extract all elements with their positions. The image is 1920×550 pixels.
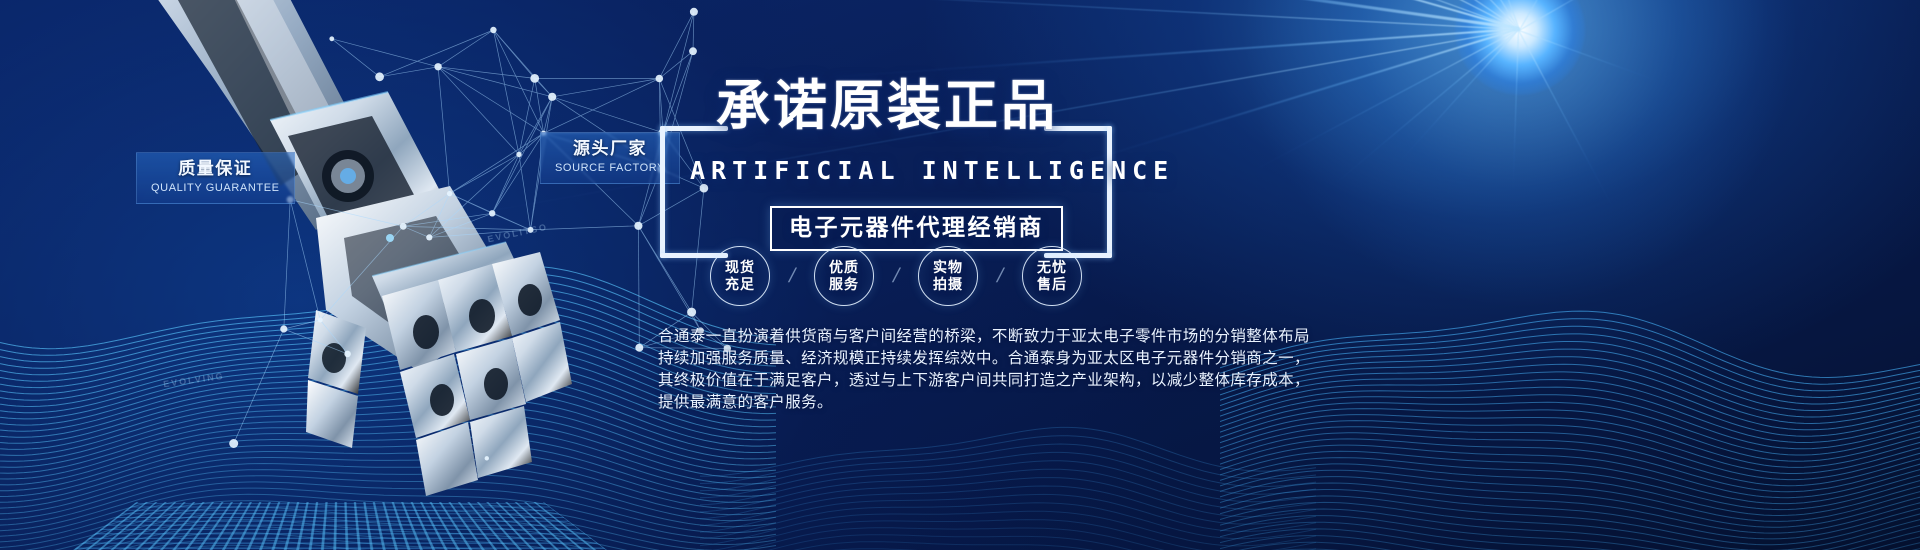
bracket-left-vertical: [660, 126, 665, 258]
light-ray: [1519, 0, 1675, 31]
feature-badge-list: 现货充足/优质服务/实物拍摄/无忧售后: [710, 246, 1082, 306]
light-ray: [842, 0, 1520, 30]
light-ray: [1402, 0, 1519, 30]
light-ray: [1030, 0, 1519, 30]
slogan-text: 电子元器件代理经销商: [789, 214, 1044, 240]
light-ray: [1335, 29, 1519, 184]
description-line: 其终极价值在于满足客户，透过与上下游客户间共同打造之产业架构，以减少整体库存成本…: [658, 370, 1318, 392]
light-ray: [1398, 29, 1519, 163]
light-ray: [1468, 0, 1520, 30]
badge-quality-guarantee: 质量保证 QUALITY GUARANTEE: [136, 152, 295, 204]
feature-badge: 现货充足: [710, 246, 770, 306]
feature-line-2: 充足: [725, 276, 755, 293]
light-ray: [1513, 30, 1519, 190]
feature-line-1: 现货: [725, 259, 755, 276]
light-ray: [1519, 0, 1585, 30]
description-line: 持续加强服务质量、经济规模正持续发挥综效中。合通泰身为亚太区电子元器件分销商之一…: [658, 348, 1318, 370]
feature-separator: /: [871, 265, 921, 288]
light-ray: [673, 0, 1520, 30]
feature-line-2: 服务: [829, 276, 859, 293]
feature-line-1: 实物: [933, 259, 963, 276]
feature-badge: 实物拍摄: [918, 246, 978, 306]
feature-line-1: 优质: [829, 259, 859, 276]
badge-quality-en: QUALITY GUARANTEE: [151, 180, 280, 197]
bracket-right-vertical: [1107, 126, 1112, 258]
light-ray: [1518, 30, 1613, 207]
description-line: 提供最满意的客户服务。: [658, 392, 1318, 414]
light-ray: [1311, 0, 1520, 30]
feature-line-2: 拍摄: [933, 276, 963, 293]
light-ray: [1163, 0, 1520, 30]
lens-flare-icon: [1455, 0, 1585, 95]
badge-quality-cn: 质量保证: [151, 159, 280, 179]
english-subtitle: ARTIFICIAL INTELLIGENCE: [690, 156, 1174, 185]
slogan-box: 电子元器件代理经销商: [770, 206, 1063, 251]
light-ray: [885, 0, 1519, 30]
description-line: 合通泰一直扮演着供货商与客户间经营的桥梁，不断致力于亚太电子零件市场的分销整体布…: [658, 326, 1318, 348]
feature-separator: /: [767, 265, 817, 288]
description-paragraph: 合通泰一直扮演着供货商与客户间经营的桥梁，不断致力于亚太电子零件市场的分销整体布…: [658, 326, 1318, 414]
feature-line-2: 售后: [1037, 276, 1067, 293]
feature-line-1: 无忧: [1037, 259, 1067, 276]
feature-badge: 无忧售后: [1022, 246, 1082, 306]
light-ray: [821, 28, 1519, 79]
feature-badge: 优质服务: [814, 246, 874, 306]
headline-title: 承诺原装正品: [716, 78, 1058, 135]
promotional-banner: EVOLITSO EVOLVING 质量保证 QUALITY GUARANTEE…: [0, 0, 1920, 550]
banner-content: 承诺原装正品 ARTIFICIAL INTELLIGENCE 电子元器件代理经销…: [648, 78, 1328, 498]
feature-separator: /: [975, 265, 1025, 288]
light-ray: [1519, 30, 1660, 82]
